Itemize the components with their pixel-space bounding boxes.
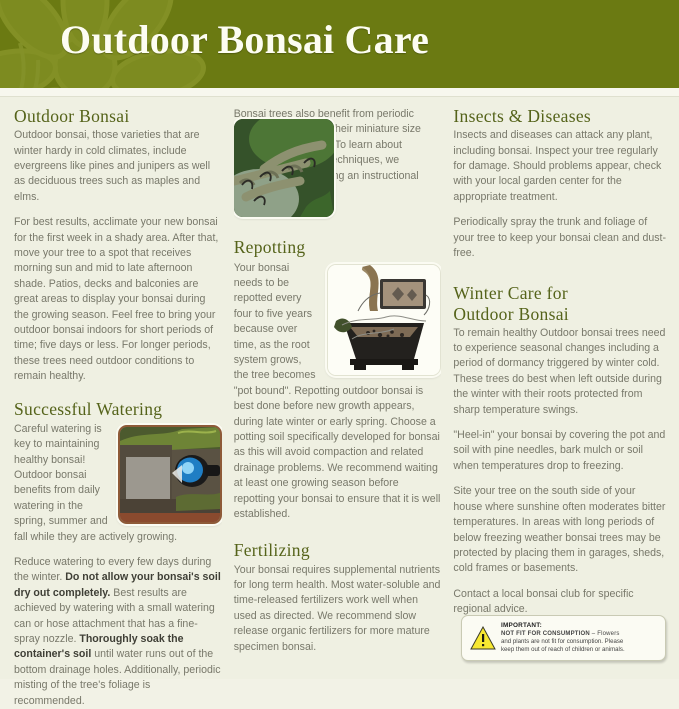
heading-winter-care-line2: Outdoor Bonsai <box>453 304 569 324</box>
paragraph-outdoor-bonsai-1: Outdoor bonsai, those varieties that are… <box>14 128 222 205</box>
warning-line-1: IMPORTANT: <box>501 622 625 630</box>
paragraph-outdoor-bonsai-2: For best results, acclimate your new bon… <box>14 215 222 384</box>
watering-block: Careful watering is key to maintaining h… <box>14 421 222 555</box>
warning-text: IMPORTANT: NOT FIT FOR CONSUMPTION – Flo… <box>501 622 625 655</box>
paragraph-insects-2: Periodically spray the trunk and foliage… <box>453 215 667 261</box>
paragraph-watering-2: Reduce watering to every few days during… <box>14 555 222 709</box>
bonsai-branch-wiring-photo <box>234 119 334 217</box>
heading-successful-watering: Successful Watering <box>14 399 222 419</box>
heading-repotting: Repotting <box>234 237 442 257</box>
page-root: Outdoor Bonsai Care Outdoor Bonsai Outdo… <box>0 0 679 679</box>
column-left: Outdoor Bonsai Outdoor bonsai, those var… <box>14 106 234 679</box>
content-columns: Outdoor Bonsai Outdoor bonsai, those var… <box>0 96 679 679</box>
heading-fertilizing: Fertilizing <box>234 540 442 560</box>
warning-line-2-bold: NOT FIT FOR CONSUMPTION <box>501 631 590 637</box>
heading-insects-diseases: Insects & Diseases <box>453 106 667 126</box>
warning-line-4: keep them out of reach of children or an… <box>501 646 625 654</box>
column-right: Insects & Diseases Insects and diseases … <box>453 106 667 679</box>
paragraph-winter-2: "Heel-in" your bonsai by covering the po… <box>453 428 667 474</box>
bonsai-repotting-photo <box>327 264 441 376</box>
paragraph-winter-4: Contact a local bonsai club for specific… <box>453 587 667 618</box>
repotting-block: Your bonsai needs to be repotted every f… <box>234 260 442 533</box>
heading-winter-care-line1: Winter Care for <box>453 283 568 303</box>
page-header: Outdoor Bonsai Care <box>0 0 679 88</box>
paragraph-insects-1: Insects and diseases can attack any plan… <box>453 128 667 205</box>
heading-winter-care: Winter Care for Outdoor Bonsai <box>453 283 667 323</box>
heading-outdoor-bonsai: Outdoor Bonsai <box>14 106 222 126</box>
warning-box: IMPORTANT: NOT FIT FOR CONSUMPTION – Flo… <box>461 615 666 661</box>
watering-hose-photo <box>118 425 222 524</box>
warning-line-2: NOT FIT FOR CONSUMPTION – Flowers <box>501 630 625 638</box>
warning-triangle-icon <box>470 626 496 650</box>
warning-line-2-rest: – Flowers <box>590 631 620 637</box>
paragraph-winter-1: To remain healthy Outdoor bonsai trees n… <box>453 326 667 418</box>
page-title: Outdoor Bonsai Care <box>60 16 429 63</box>
paragraph-fertilizing-1: Your bonsai requires supplemental nutrie… <box>234 563 442 655</box>
column-middle: Bonsai trees also benefit from periodic … <box>234 106 454 679</box>
paragraph-winter-3: Site your tree on the south side of your… <box>453 484 667 576</box>
warning-line-3: and plants are not fit for consumption. … <box>501 638 625 646</box>
